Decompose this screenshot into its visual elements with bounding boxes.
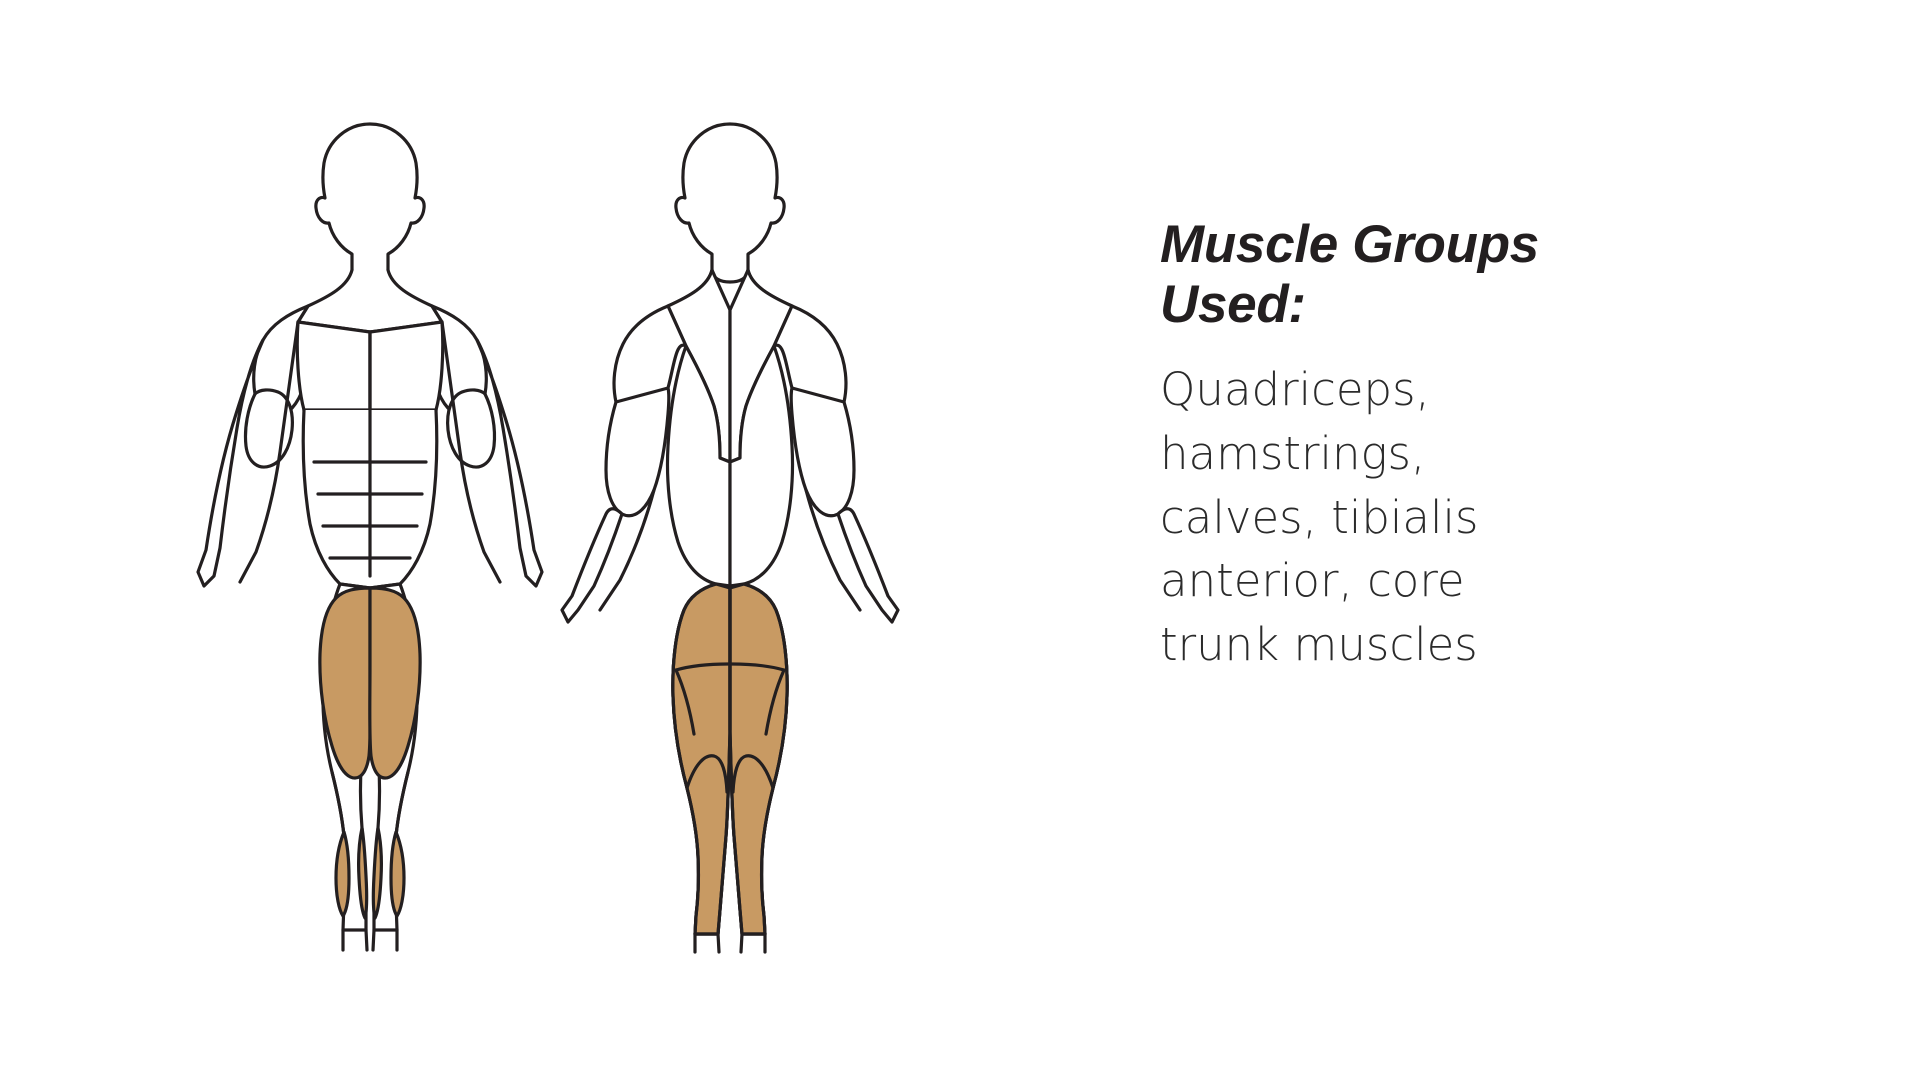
right-pectoral [370,322,443,410]
figure-group [180,110,920,970]
left-tibialis-inner-highlight [359,828,367,918]
right-triceps [791,388,854,516]
right-tibialis-inner-highlight [373,828,381,918]
left-triceps [606,388,669,516]
head-back-outline [676,124,784,282]
right-forearm-back [838,509,898,622]
muscle-groups-heading: Muscle Groups Used: [1160,215,1640,336]
right-tibialis-highlight [391,832,404,916]
left-forearm-back [562,509,622,622]
neck-trapezius [298,270,442,332]
anterior-figure [180,110,560,970]
left-biceps [245,390,292,467]
head-outline [316,124,424,282]
info-panel: Muscle Groups Used: Quadriceps, hamstrin… [1160,215,1720,677]
muscle-diagram-slide: Muscle Groups Used: Quadriceps, hamstrin… [0,0,1920,1080]
left-tibialis-highlight [336,832,349,916]
posterior-figure [540,110,920,970]
right-biceps [448,390,495,467]
muscle-groups-list: Quadriceps, hamstrings, calves, tibialis… [1160,358,1600,677]
left-pectoral [297,322,370,410]
